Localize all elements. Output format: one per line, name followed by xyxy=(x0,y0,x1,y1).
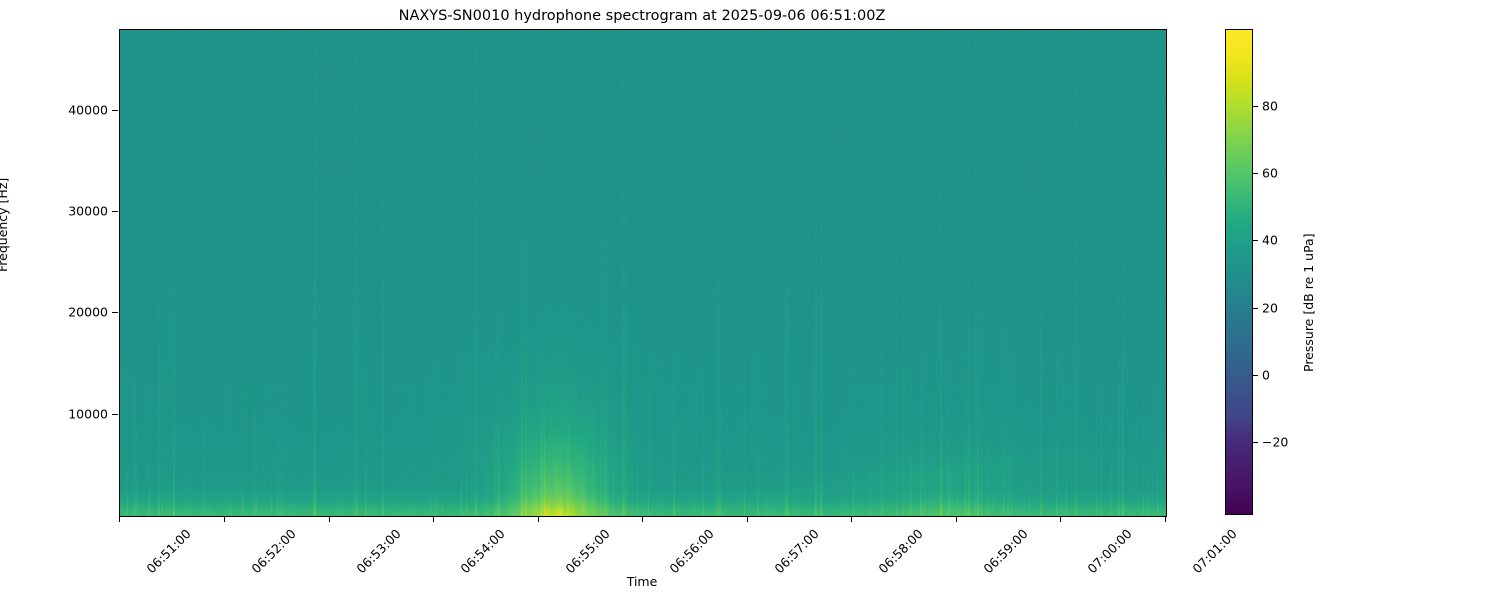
spectrogram-image xyxy=(120,30,1166,516)
xtick-mark-0 xyxy=(119,516,120,522)
xtick-label-3: 06:54:00 xyxy=(457,526,507,576)
xtick-mark-10 xyxy=(1165,516,1166,522)
colorbar-tick-label-60: 60 xyxy=(1262,166,1278,181)
colorbar-tick-mark-0 xyxy=(1252,375,1258,376)
xtick-label-9: 07:00:00 xyxy=(1084,526,1134,576)
colorbar-tick-mark-60 xyxy=(1252,173,1258,174)
colorbar-tick-mark-80 xyxy=(1252,106,1258,107)
ytick-mark-30000 xyxy=(112,211,118,212)
colorbar xyxy=(1225,29,1253,515)
ytick-mark-10000 xyxy=(112,414,118,415)
x-axis-label: Time xyxy=(119,574,1165,589)
xtick-mark-3 xyxy=(433,516,434,522)
colorbar-tick-label-0: 0 xyxy=(1262,368,1270,383)
xtick-mark-7 xyxy=(851,516,852,522)
ytick-label-40000: 40000 xyxy=(68,103,108,118)
colorbar-tick-mark-minus20 xyxy=(1252,442,1258,443)
colorbar-label: Pressure [dB re 1 uPa] xyxy=(1301,233,1316,372)
xtick-label-10: 07:01:00 xyxy=(1189,526,1239,576)
xtick-label-1: 06:52:00 xyxy=(248,526,298,576)
xtick-label-5: 06:56:00 xyxy=(666,526,716,576)
y-axis-label: Frequency [Hz] xyxy=(0,178,10,272)
ytick-label-10000: 10000 xyxy=(68,407,108,422)
ytick-mark-40000 xyxy=(112,110,118,111)
colorbar-gradient xyxy=(1226,30,1252,514)
xtick-mark-4 xyxy=(538,516,539,522)
xtick-label-8: 06:59:00 xyxy=(980,526,1030,576)
xtick-label-2: 06:53:00 xyxy=(353,526,403,576)
xtick-label-6: 06:57:00 xyxy=(771,526,821,576)
xtick-mark-8 xyxy=(956,516,957,522)
xtick-label-0: 06:51:00 xyxy=(143,526,193,576)
xtick-mark-9 xyxy=(1060,516,1061,522)
colorbar-tick-label-20: 20 xyxy=(1262,301,1278,316)
ytick-mark-20000 xyxy=(112,312,118,313)
xtick-mark-5 xyxy=(642,516,643,522)
ytick-label-20000: 20000 xyxy=(68,305,108,320)
colorbar-tick-mark-20 xyxy=(1252,308,1258,309)
xtick-mark-2 xyxy=(329,516,330,522)
page-title: NAXYS-SN0010 hydrophone spectrogram at 2… xyxy=(119,8,1165,24)
colorbar-tick-label-40: 40 xyxy=(1262,233,1278,248)
xtick-mark-1 xyxy=(224,516,225,522)
colorbar-tick-label-80: 80 xyxy=(1262,99,1278,114)
colorbar-tick-mark-40 xyxy=(1252,240,1258,241)
spectrogram-axes xyxy=(119,29,1167,517)
colorbar-tick-label-minus20: −20 xyxy=(1262,435,1288,450)
xtick-mark-6 xyxy=(747,516,748,522)
ytick-label-30000: 30000 xyxy=(68,204,108,219)
matplotlib-figure: NAXYS-SN0010 hydrophone spectrogram at 2… xyxy=(0,0,1500,600)
xtick-label-7: 06:58:00 xyxy=(875,526,925,576)
xtick-label-4: 06:55:00 xyxy=(562,526,612,576)
